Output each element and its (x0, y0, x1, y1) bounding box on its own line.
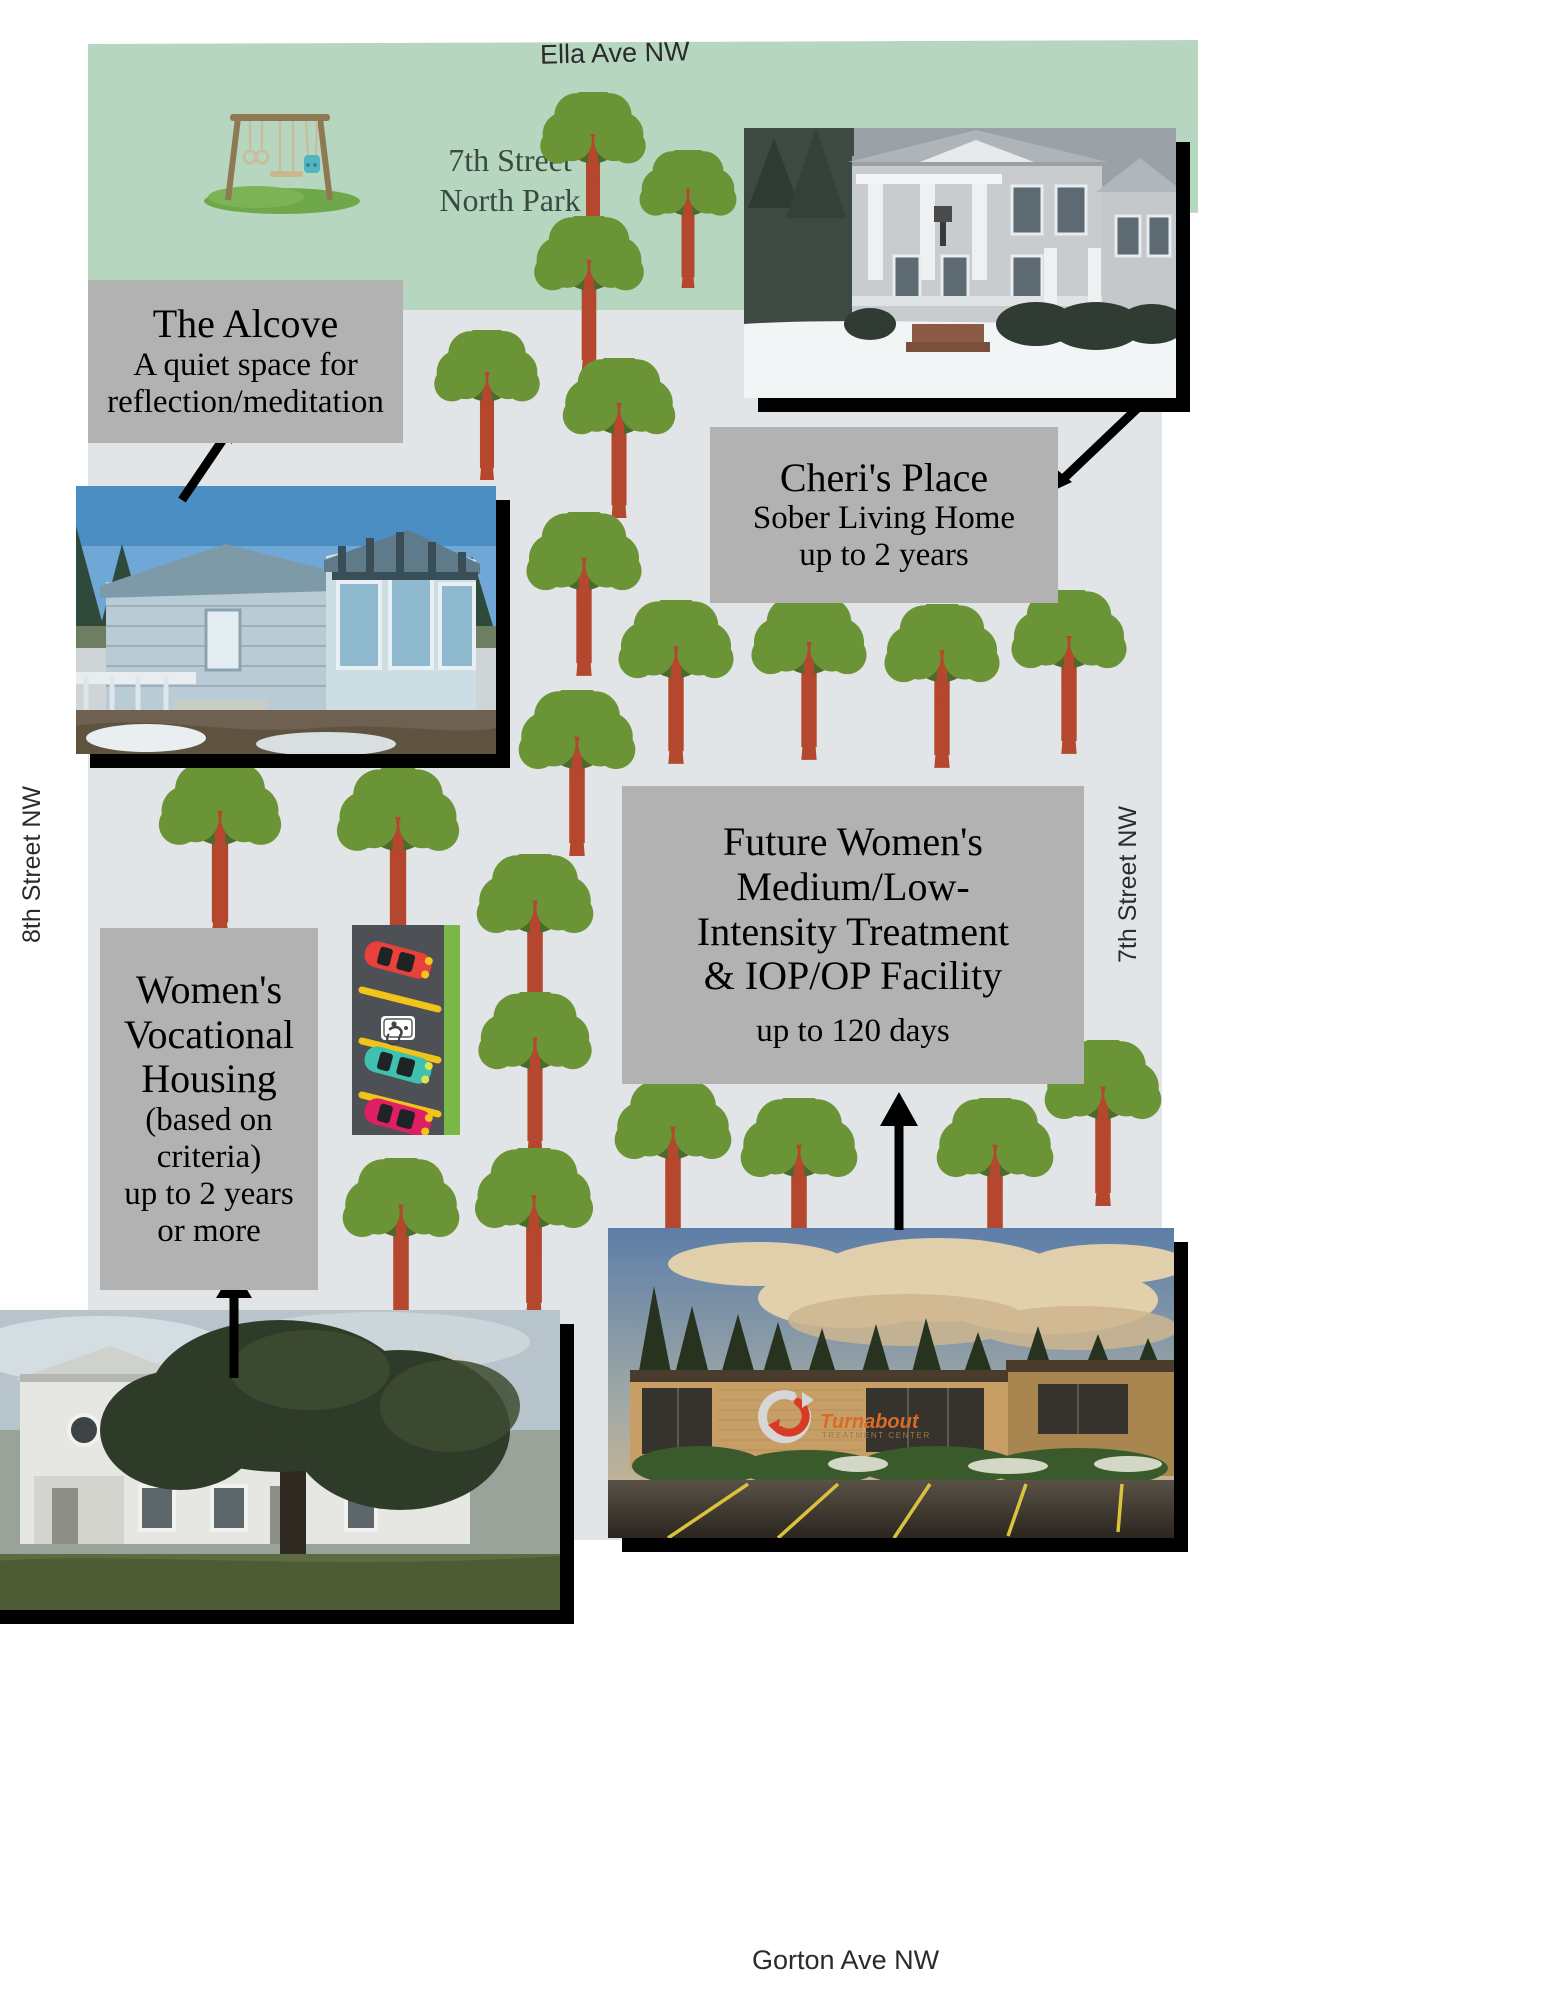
tree (152, 762, 288, 936)
photo-alcove (76, 486, 496, 754)
photo-future-facility: Turnabout TREATMENT CENTER (608, 1228, 1174, 1538)
street-label-ella-ave: Ella Ave NW (540, 36, 690, 70)
photo-frame (744, 128, 1176, 398)
infobox-line-5: up to 2 years (124, 1176, 294, 1213)
infobox-title: Future Women's (723, 820, 983, 865)
tree (634, 150, 742, 288)
infobox-line-3: & IOP/OP Facility (704, 954, 1003, 999)
tree (556, 358, 682, 518)
infobox-line-3: (based on (145, 1102, 272, 1139)
infobox-line-1: Medium/Low- (736, 865, 969, 910)
infobox-cheris-place[interactable]: Cheri's Place Sober Living Home up to 2 … (710, 427, 1058, 603)
infobox-title: Women's (136, 968, 282, 1013)
building-brand-text: Turnabout (820, 1411, 920, 1433)
infobox-line-4: criteria) (157, 1139, 261, 1176)
infobox-line-2: reflection/meditation (107, 384, 384, 421)
street-label-8th-street: 8th Street NW (18, 786, 47, 943)
tree (745, 596, 873, 760)
tree (330, 768, 466, 942)
photo-frame (76, 486, 496, 754)
tree (468, 1148, 600, 1316)
infobox-line-2: up to 2 years (799, 537, 969, 574)
infobox-line-6: or more (157, 1213, 261, 1250)
tree (428, 330, 546, 480)
street-label-7th-street: 7th Street NW (1114, 806, 1143, 963)
infobox-title: Cheri's Place (780, 456, 988, 501)
photo-vocational-housing (0, 1310, 560, 1610)
parking-lot-graphic (352, 925, 460, 1135)
tree (1005, 590, 1133, 754)
photo-frame: Turnabout TREATMENT CENTER (608, 1228, 1174, 1538)
building-tagline-text: TREATMENT CENTER (822, 1431, 931, 1440)
infobox-title: The Alcove (153, 302, 339, 347)
infobox-line-1: A quiet space for (133, 347, 358, 384)
photo-cheris-place (744, 128, 1176, 398)
infobox-line-4: up to 120 days (756, 1013, 949, 1050)
street-label-gorton-ave: Gorton Ave NW (752, 1945, 939, 1976)
infobox-the-alcove[interactable]: The Alcove A quiet space for reflection/… (88, 280, 403, 443)
arrow-to-facility-photo (874, 1092, 924, 1232)
tree (878, 604, 1006, 768)
infobox-line-2: Housing (141, 1057, 277, 1102)
infobox-line-2: Intensity Treatment (697, 910, 1009, 955)
infobox-vocational-housing[interactable]: Women's Vocational Housing (based on cri… (100, 928, 318, 1290)
infobox-future-facility[interactable]: Future Women's Medium/Low- Intensity Tre… (622, 786, 1084, 1084)
tree (336, 1158, 466, 1324)
tree (608, 1080, 738, 1246)
swing-set-icon (190, 100, 370, 215)
photo-frame (0, 1310, 560, 1610)
infobox-line-1: Vocational (124, 1013, 294, 1058)
tree (472, 992, 598, 1154)
tree (528, 216, 650, 372)
infobox-line-1: Sober Living Home (753, 500, 1015, 537)
site-plan-map: 7th Street North Park Ella Ave NW 8th St… (0, 0, 1545, 2000)
